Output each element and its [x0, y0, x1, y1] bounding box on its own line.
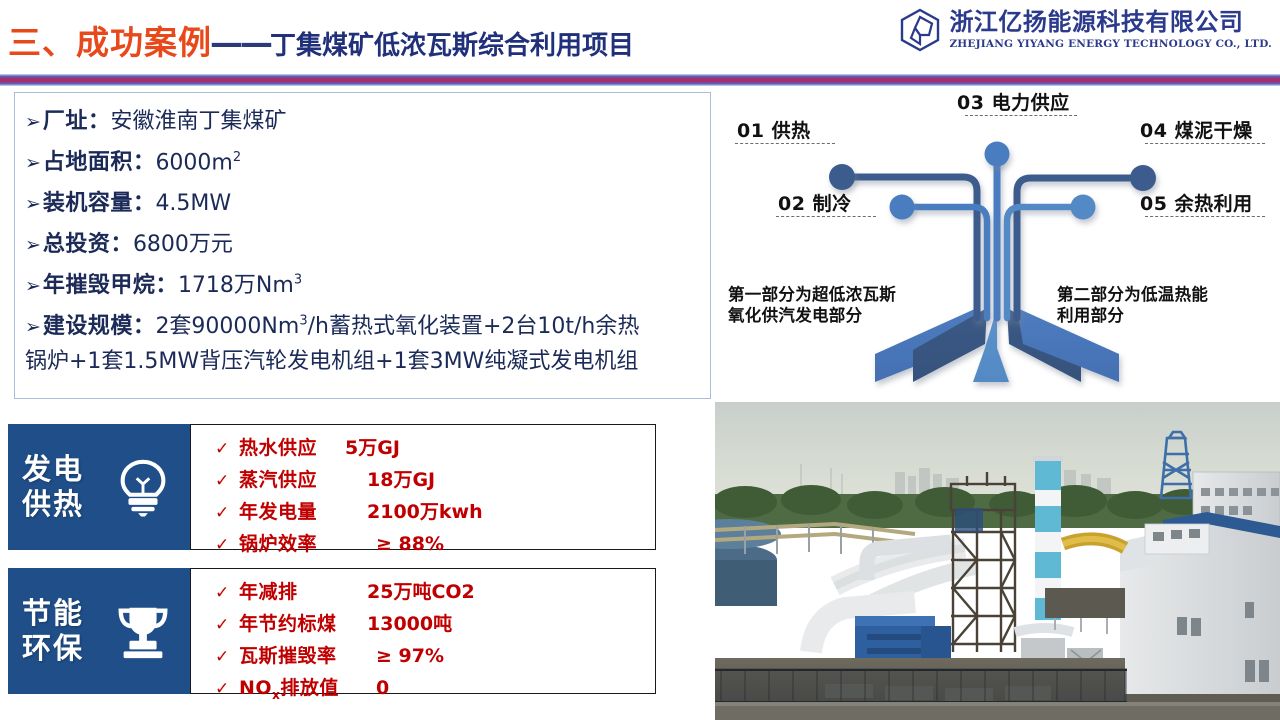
bullet-arrow-icon: ➢ — [25, 154, 41, 173]
check-icon: ✓ — [215, 615, 239, 635]
info-value-superscript: 3 — [294, 273, 302, 288]
hexagon-crystal-logo-icon — [899, 8, 941, 52]
check-icon: ✓ — [215, 647, 239, 667]
diagram-underline-01 — [735, 143, 835, 144]
info-value-superscript: 3 — [299, 314, 307, 329]
photo-left-tanks — [715, 519, 781, 606]
diagram-label-02: 02 制冷 — [778, 189, 852, 218]
trophy-icon — [112, 600, 174, 662]
info-label: 总投资： — [43, 226, 133, 258]
info-value: 2套90000Nm3/h蓄热式氧化装置+2台10t/h余热 — [155, 308, 639, 340]
metric-name: 瓦斯摧毁率 — [239, 641, 376, 668]
list-item: ➢ 年摧毁甲烷： 1718万Nm3 — [25, 267, 702, 299]
metric-tag-power-heat: 发电 供热 — [8, 424, 190, 550]
metric-tag-line2: 供热 — [22, 487, 84, 522]
list-item: ➢ 总投资： 6800万元 — [25, 226, 702, 258]
slide-header: 三、成功案例 —— 丁集煤矿低浓瓦斯综合利用项目 浙江亿扬能源科技有限公司 ZH… — [0, 0, 1280, 75]
metric-value: 2100万kwh — [367, 497, 483, 524]
list-item: ➢ 建设规模： 2套90000Nm3/h蓄热式氧化装置+2台10t/h余热 锅炉… — [25, 308, 702, 375]
page-title-sub: 丁集煤矿低浓瓦斯综合利用项目 — [270, 25, 634, 62]
metric-row: ✓ 年发电量 2100万kwh — [215, 497, 655, 524]
list-item: ➢ 装机容量： 4.5MW — [25, 185, 702, 217]
check-icon: ✓ — [215, 471, 239, 491]
metric-value: 13000吨 — [367, 609, 452, 636]
lightbulb-icon — [112, 456, 174, 518]
logo-company-name-en: ZHEJIANG YIYANG ENERGY TECHNOLOGY CO., L… — [949, 38, 1272, 50]
metric-row: ✓ NOx排放值 0 — [215, 673, 655, 702]
metric-value: 18万GJ — [367, 465, 435, 492]
header-divider — [0, 74, 1280, 86]
company-logo: 浙江亿扬能源科技有限公司 ZHEJIANG YIYANG ENERGY TECH… — [899, 8, 1272, 52]
node-05-dot — [1071, 195, 1096, 220]
page-title: 三、成功案例 —— 丁集煤矿低浓瓦斯综合利用项目 — [8, 16, 634, 64]
diagram-underline-02 — [776, 216, 876, 217]
check-icon: ✓ — [215, 583, 239, 603]
metric-row: ✓ 年节约标煤 13000吨 — [215, 609, 655, 636]
metric-value: ≥ 88% — [376, 533, 444, 555]
metric-list-energy-environment: ✓ 年减排 25万吨CO2 ✓ 年节约标煤 13000吨 ✓ 瓦斯摧毁率 ≥ 9… — [190, 568, 656, 694]
bullet-arrow-icon: ➢ — [25, 318, 41, 337]
info-label: 占地面积： — [43, 144, 156, 176]
diagram-underline-03 — [965, 115, 1077, 116]
industrial-plant-aerial-photo — [715, 402, 1280, 720]
metric-name: 锅炉效率 — [239, 529, 376, 556]
metric-tag-energy-environment: 节能 环保 — [8, 568, 190, 694]
node-03-dot — [985, 142, 1010, 167]
diagram-label-04: 04 煤泥干燥 — [1140, 116, 1253, 145]
diagram-label-03: 03 电力供应 — [957, 88, 1070, 117]
logo-company-name-cn: 浙江亿扬能源科技有限公司 — [949, 10, 1272, 35]
bullet-arrow-icon: ➢ — [25, 236, 41, 255]
metric-value: 5万GJ — [345, 433, 400, 460]
info-label: 建设规模： — [43, 308, 156, 340]
metric-value: 0 — [376, 677, 389, 699]
metric-name: 年节约标煤 — [239, 609, 367, 636]
info-value: 安徽淮南丁集煤矿 — [110, 103, 286, 135]
check-icon: ✓ — [215, 535, 239, 555]
node-01-dot — [829, 164, 855, 190]
metric-value: ≥ 97% — [376, 645, 444, 667]
project-info-box: ➢ 厂址： 安徽淮南丁集煤矿 ➢ 占地面积： 6000m2 ➢ 装机容量： 4.… — [14, 92, 711, 399]
check-icon: ✓ — [215, 679, 239, 699]
bullet-arrow-icon: ➢ — [25, 195, 41, 214]
diagram-caption-left: 第一部分为超低浓瓦斯 氧化供汽发电部分 — [728, 284, 896, 326]
diagram-label-01: 01 供热 — [737, 116, 811, 145]
bullet-arrow-icon: ➢ — [25, 277, 41, 296]
photo-fence — [715, 668, 1127, 704]
metric-value: 25万吨CO2 — [367, 577, 475, 604]
metric-tag-line1: 发电 — [22, 452, 84, 487]
bullet-arrow-icon: ➢ — [25, 113, 41, 132]
metric-row: ✓ 热水供应 5万GJ — [215, 433, 655, 460]
metric-block-power-heat: 发电 供热 ✓ 热水供应 5万GJ ✓ 蒸汽供应 18万GJ — [8, 424, 656, 550]
metric-list-power-heat: ✓ 热水供应 5万GJ ✓ 蒸汽供应 18万GJ ✓ 年发电量 2100万kwh… — [190, 424, 656, 550]
metric-row: ✓ 年减排 25万吨CO2 — [215, 577, 655, 604]
page-title-dash: —— — [210, 23, 270, 62]
metric-tag-line1: 节能 — [22, 596, 84, 631]
metric-name: 蒸汽供应 — [239, 465, 367, 492]
metric-row: ✓ 锅炉效率 ≥ 88% — [215, 529, 655, 556]
metric-tag-line2: 环保 — [22, 631, 84, 666]
photo-svg — [715, 402, 1280, 720]
info-label: 厂址： — [43, 103, 111, 135]
node-02-dot — [890, 195, 915, 220]
metric-row: ✓ 蒸汽供应 18万GJ — [215, 465, 655, 492]
info-label: 装机容量： — [43, 185, 156, 217]
metric-name: 热水供应 — [239, 433, 345, 460]
node-04-dot — [1130, 165, 1156, 191]
diagram-caption-right: 第二部分为低温热能 利用部分 — [1057, 284, 1208, 326]
list-item: ➢ 占地面积： 6000m2 — [25, 144, 702, 176]
page-title-main: 三、成功案例 — [8, 16, 212, 64]
metric-row: ✓ 瓦斯摧毁率 ≥ 97% — [215, 641, 655, 668]
info-value: 4.5MW — [155, 191, 231, 216]
metric-name: NOx排放值 — [239, 673, 376, 702]
info-value: 1718万Nm3 — [178, 267, 302, 299]
slide-root: 三、成功案例 —— 丁集煤矿低浓瓦斯综合利用项目 浙江亿扬能源科技有限公司 ZH… — [0, 0, 1280, 720]
process-tree-diagram: 01 供热 02 制冷 03 电力供应 04 煤泥干燥 05 余热利用 第一部分… — [715, 86, 1280, 400]
info-value: 6800万元 — [133, 226, 233, 258]
diagram-label-05: 05 余热利用 — [1140, 189, 1253, 218]
diagram-underline-05 — [1145, 216, 1265, 217]
info-value-superscript: 2 — [233, 150, 241, 165]
info-value: 6000m2 — [155, 150, 241, 175]
list-item: ➢ 厂址： 安徽淮南丁集煤矿 — [25, 103, 702, 135]
info-label: 年摧毁甲烷： — [43, 267, 178, 299]
logo-text-block: 浙江亿扬能源科技有限公司 ZHEJIANG YIYANG ENERGY TECH… — [949, 10, 1272, 49]
diagram-underline-04 — [1145, 143, 1265, 144]
check-icon: ✓ — [215, 503, 239, 523]
metric-name: 年减排 — [239, 577, 367, 604]
metric-name: 年发电量 — [239, 497, 367, 524]
metric-block-energy-environment: 节能 环保 ✓ 年减排 25万吨CO2 ✓ 年节约标煤 13000吨 — [8, 568, 656, 694]
check-icon: ✓ — [215, 439, 239, 459]
info-value-continued: 锅炉+1套1.5MW背压汽轮发电机组+1套3MW纯凝式发电机组 — [25, 343, 702, 375]
